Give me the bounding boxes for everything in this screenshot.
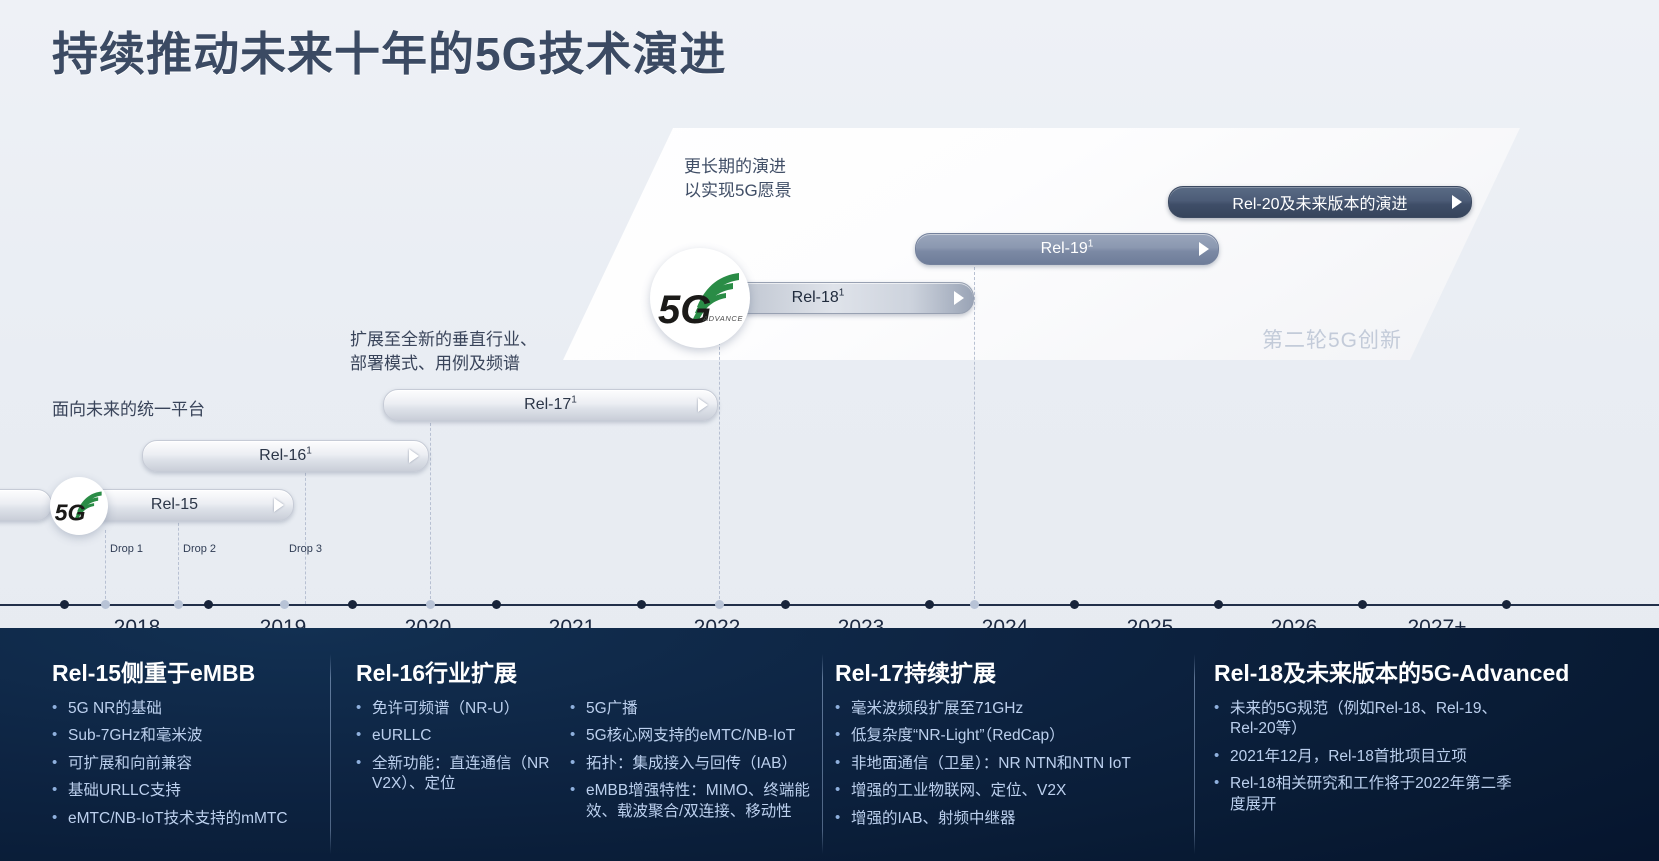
list-item: 增强的工业物联网、定位、V2X — [835, 781, 1185, 801]
list-item: eURLLC — [356, 726, 556, 746]
axis-tick-marker — [970, 600, 979, 609]
svg-text:5G: 5G — [55, 500, 86, 524]
arrow-icon — [698, 398, 708, 412]
guide-line-2020 — [430, 418, 431, 604]
bullet-list-rel17: 毫米波频段扩展至71GHz 低复杂度“NR-Light”（RedCap） 非地面… — [835, 699, 1185, 829]
list-item: 基础URLLC支持 — [52, 781, 322, 801]
arrow-icon — [1199, 242, 1209, 256]
column-title-rel16: Rel-16行业扩展 — [356, 654, 816, 688]
second-wave-watermark: 第二轮5G创新 — [1262, 324, 1402, 354]
list-item: 毫米波频段扩展至71GHz — [835, 699, 1185, 719]
bar-rel19-label: Rel-191 — [1041, 240, 1094, 258]
list-item: 5G核心网支持的eMTC/NB-IoT — [570, 726, 816, 746]
bar-rel20[interactable]: Rel-20及未来版本的演进 — [1168, 186, 1472, 218]
summary-column-rel16: Rel-16行业扩展 免许可频谱（NR-U） eURLLC 全新功能：直连通信（… — [356, 628, 816, 861]
arrow-icon — [409, 449, 419, 463]
list-item: 2021年12月，Rel-18首批项目立项 — [1214, 747, 1514, 767]
column-title-rel17: Rel-17持续扩展 — [835, 654, 1185, 688]
panel-note-text: 更长期的演进 以实现5G愿景 — [684, 155, 792, 203]
list-item: 拓扑：集成接入与回传（IAB） — [570, 754, 816, 774]
5g-logo-icon: 5G — [54, 488, 104, 524]
timeline-area: 持续推动未来十年的5G技术演进 更长期的演进 以实现5G愿景 第二轮5G创新 面… — [0, 0, 1659, 660]
bar-rel20-label: Rel-20及未来版本的演进 — [1232, 190, 1407, 214]
axis-tick — [1070, 600, 1079, 609]
axis-tick — [348, 600, 357, 609]
list-item: eMTC/NB-IoT技术支持的mMTC — [52, 809, 322, 829]
svg-text:ADVANCED: ADVANCED — [702, 314, 743, 323]
5g-advanced-logo-icon: 5G ADVANCED — [657, 267, 743, 329]
column-title-rel18: Rel-18及未来版本的5G-Advanced — [1214, 654, 1614, 688]
bullet-list-rel15: 5G NR的基础 Sub-7GHz和毫米波 可扩展和向前兼容 基础URLLC支持… — [52, 699, 322, 829]
list-item: 5G广播 — [570, 699, 816, 719]
release-summary-panel: Rel-15侧重于eMBB 5G NR的基础 Sub-7GHz和毫米波 可扩展和… — [0, 628, 1659, 861]
summary-column-rel18: Rel-18及未来版本的5G-Advanced 未来的5G规范（例如Rel-18… — [1214, 628, 1614, 861]
caption-vertical-expansion: 扩展至全新的垂直行业、 部署模式、用例及频谱 — [350, 328, 537, 376]
timeline-axis — [0, 604, 1659, 606]
list-item: 全新功能：直连通信（NR V2X）、定位 — [356, 754, 556, 795]
page-title: 持续推动未来十年的5G技术演进 — [52, 18, 726, 84]
list-item: 可扩展和向前兼容 — [52, 754, 322, 774]
axis-tick — [60, 600, 69, 609]
axis-tick — [1214, 600, 1223, 609]
list-item: eMBB增强特性：MIMO、终端能效、载波聚合/双连接、移动性 — [570, 781, 816, 822]
bar-rel18-label: Rel-181 — [792, 289, 845, 307]
list-item: 5G NR的基础 — [52, 699, 322, 719]
column-divider — [1194, 654, 1195, 854]
bar-continuation-stub — [0, 489, 52, 521]
bar-rel16[interactable]: Rel-161 — [142, 440, 429, 472]
axis-tick — [492, 600, 501, 609]
summary-column-rel17: Rel-17持续扩展 毫米波频段扩展至71GHz 低复杂度“NR-Light”（… — [835, 628, 1185, 861]
column-divider — [822, 654, 823, 854]
arrow-icon — [1452, 195, 1462, 209]
bar-rel17-label: Rel-171 — [524, 396, 577, 414]
list-item: 免许可频谱（NR-U） — [356, 699, 556, 719]
drop-label-1: Drop 1 — [110, 543, 143, 555]
logo-5g-advanced: 5G ADVANCED — [650, 248, 750, 348]
list-item: Rel-18相关研究和工作将于2022年第二季度展开 — [1214, 774, 1514, 815]
guide-line-2022 — [719, 312, 720, 604]
list-item: 非地面通信（卫星）：NR NTN和NTN IoT — [835, 754, 1185, 774]
guide-line-2024 — [974, 262, 975, 604]
bullet-list-rel16-a: 免许可频谱（NR-U） eURLLC 全新功能：直连通信（NR V2X）、定位 — [356, 699, 556, 829]
axis-tick — [925, 600, 934, 609]
guide-line-2018a — [105, 530, 106, 604]
list-item: Sub-7GHz和毫米波 — [52, 726, 322, 746]
slide-canvas: 持续推动未来十年的5G技术演进 更长期的演进 以实现5G愿景 第二轮5G创新 面… — [0, 0, 1659, 861]
bar-rel15-label: Rel-15 — [151, 496, 198, 514]
axis-tick-marker — [280, 600, 289, 609]
drop-label-3: Drop 3 — [289, 543, 322, 555]
bullet-list-rel18: 未来的5G规范（例如Rel-18、Rel-19、Rel-20等） 2021年12… — [1214, 699, 1514, 815]
arrow-icon — [954, 291, 964, 305]
bar-rel16-label: Rel-161 — [259, 447, 312, 465]
bullet-list-rel16-b: 5G广播 5G核心网支持的eMTC/NB-IoT 拓扑：集成接入与回传（IAB）… — [570, 699, 816, 829]
arrow-icon — [274, 498, 284, 512]
column-divider — [330, 654, 331, 854]
axis-tick — [637, 600, 646, 609]
axis-tick — [1502, 600, 1511, 609]
axis-tick — [781, 600, 790, 609]
caption-unified-platform: 面向未来的统一平台 — [52, 398, 205, 422]
axis-tick — [204, 600, 213, 609]
summary-column-rel15: Rel-15侧重于eMBB 5G NR的基础 Sub-7GHz和毫米波 可扩展和… — [52, 628, 322, 861]
list-item: 低复杂度“NR-Light”（RedCap） — [835, 726, 1185, 746]
axis-tick-marker — [426, 600, 435, 609]
list-item: 未来的5G规范（例如Rel-18、Rel-19、Rel-20等） — [1214, 699, 1514, 740]
list-item: 增强的IAB、射频中继器 — [835, 809, 1185, 829]
guide-line-2018b — [178, 518, 179, 604]
bar-rel19[interactable]: Rel-191 — [915, 233, 1219, 265]
logo-5g: 5G — [50, 477, 108, 535]
axis-tick — [1358, 600, 1367, 609]
guide-line-2019 — [305, 468, 306, 604]
drop-label-2: Drop 2 — [183, 543, 216, 555]
axis-tick-marker — [715, 600, 724, 609]
column-title-rel15: Rel-15侧重于eMBB — [52, 654, 322, 688]
bar-rel17[interactable]: Rel-171 — [383, 389, 718, 421]
axis-tick-marker — [174, 600, 183, 609]
axis-tick-marker — [101, 600, 110, 609]
